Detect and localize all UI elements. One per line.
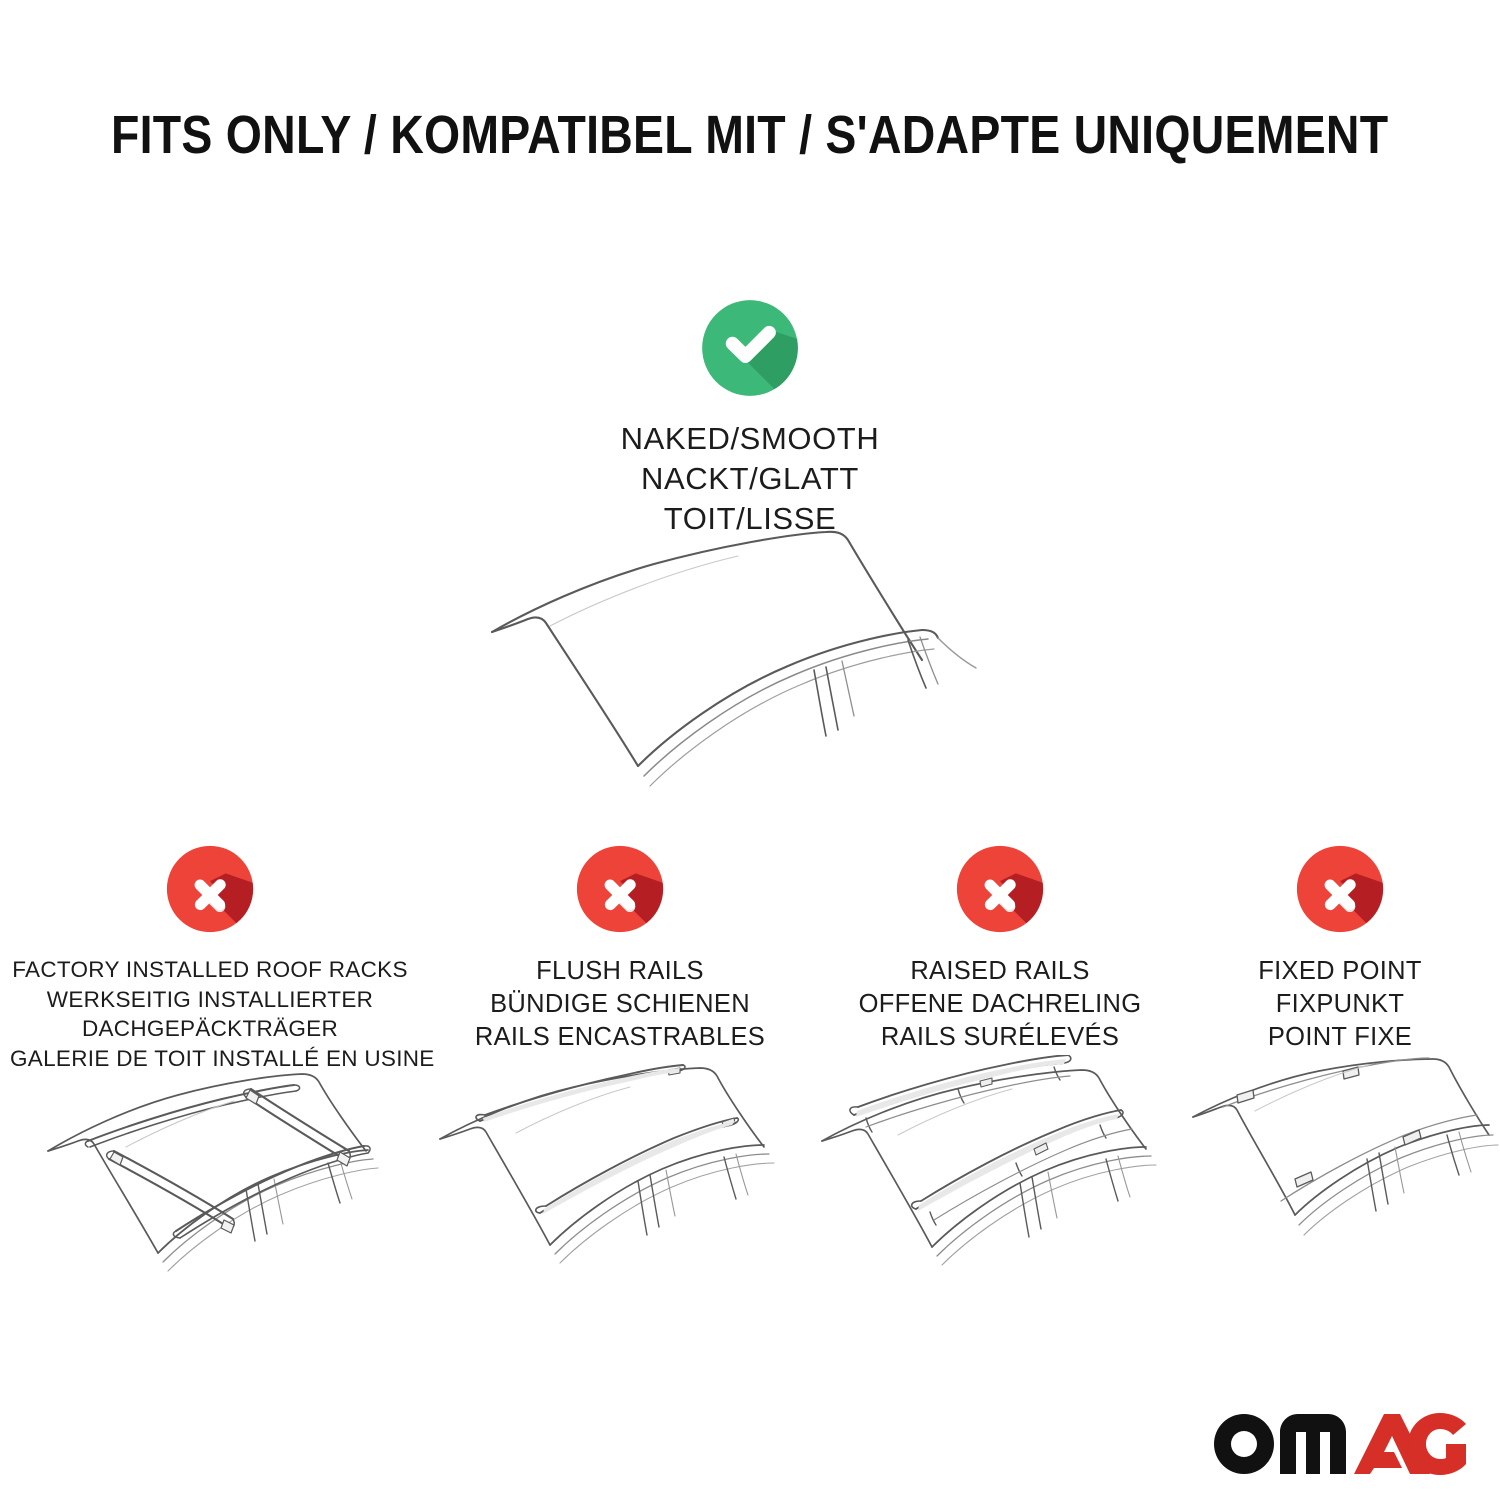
item-label-line-3: RAILS SURÉLEVÉS [810, 1021, 1190, 1054]
item-label-group: FLUSH RAILS BÜNDIGE SCHIENEN RAILS ENCAS… [430, 955, 810, 1054]
item-label-line-1: FACTORY INSTALLED ROOF RACKS [10, 955, 410, 985]
item-label-line-3: RAILS ENCASTRABLES [430, 1021, 810, 1054]
check-circle-icon [698, 296, 802, 400]
omac-logo [1208, 1402, 1468, 1478]
x-circle-icon [1291, 840, 1389, 938]
item-label-line-3: POINT FIXE [1190, 1021, 1490, 1054]
x-circle-icon [161, 840, 259, 938]
item-label-line-1: FIXED POINT [1190, 955, 1490, 988]
item-label-line-2: WERKSEITIG INSTALLIERTER [10, 985, 410, 1015]
item-label-line-2: OFFENE DACHRELING [810, 988, 1190, 1021]
item-label-group: RAISED RAILS OFFENE DACHRELING RAILS SUR… [810, 955, 1190, 1054]
car-roof-raised-rails-illustration [808, 1055, 1193, 1285]
car-roof-flush-rails-illustration [428, 1055, 813, 1285]
compatible-label-line-1: NAKED/SMOOTH [450, 419, 1050, 459]
car-roof-naked-smooth-illustration [470, 520, 1050, 800]
car-roof-fixed-point-illustration [1185, 1055, 1500, 1285]
page-title: FITS ONLY / KOMPATIBEL MIT / S'ADAPTE UN… [111, 104, 1388, 166]
item-label-line-1: FLUSH RAILS [430, 955, 810, 988]
item-label-group: FIXED POINT FIXPUNKT POINT FIXE [1190, 955, 1490, 1054]
compatible-label-line-2: NACKT/GLATT [450, 459, 1050, 499]
compatible-section: NAKED/SMOOTH NACKT/GLATT TOIT/LISSE [450, 296, 1050, 539]
x-circle-icon [951, 840, 1049, 938]
page-header: FITS ONLY / KOMPATIBEL MIT / S'ADAPTE UN… [0, 104, 1500, 166]
not-compatible-row: FACTORY INSTALLED ROOF RACKS WERKSEITIG … [0, 840, 1500, 1080]
item-label-line-1: RAISED RAILS [810, 955, 1190, 988]
car-roof-factory-rack-illustration [30, 1055, 430, 1285]
not-compatible-item-fixed-point: FIXED POINT FIXPUNKT POINT FIXE [1190, 840, 1490, 1054]
not-compatible-item-flush-rails: FLUSH RAILS BÜNDIGE SCHIENEN RAILS ENCAS… [430, 840, 810, 1054]
item-label-line-2: FIXPUNKT [1190, 988, 1490, 1021]
not-compatible-item-factory-installed-roof-racks: FACTORY INSTALLED ROOF RACKS WERKSEITIG … [10, 840, 410, 1074]
x-circle-icon [571, 840, 669, 938]
item-label-line-2: BÜNDIGE SCHIENEN [430, 988, 810, 1021]
not-compatible-item-raised-rails: RAISED RAILS OFFENE DACHRELING RAILS SUR… [810, 840, 1190, 1054]
item-label-line-3: DACHGEPÄCKTRÄGER [10, 1014, 410, 1044]
